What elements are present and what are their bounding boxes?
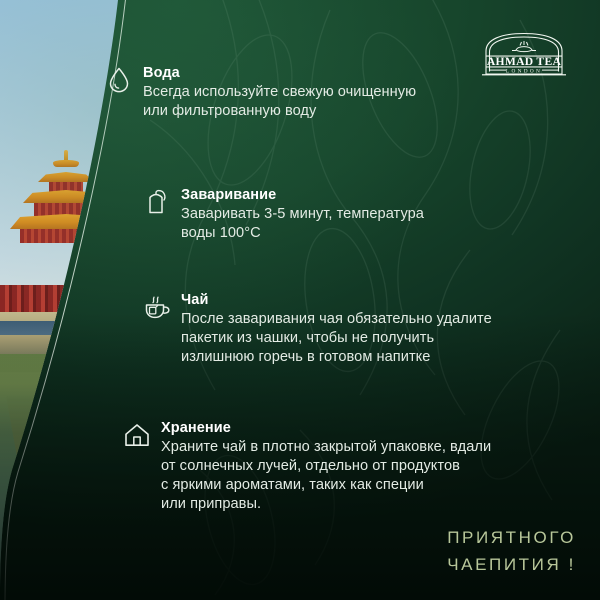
tip-title-storage: Хранение [161,419,491,437]
tip-item-brewing: Заваривание Заваривать 3-5 минут, темпер… [142,186,424,243]
tip-body-storage: Храните чай в плотно закрытой упаковке, … [161,438,491,514]
tea-bag-icon [142,187,172,217]
tip-title-water: Вода [143,64,416,82]
tea-cup-icon [142,292,172,322]
wish-line-1: ПРИЯТНОГО [447,525,576,551]
tip-text-water: Вода Всегда используйте свежую очищенную… [143,64,416,121]
tip-item-tea: Чай После заваривания чая обязательно уд… [142,291,492,367]
poster-root: AHMAD TEA LONDON Вода Всегда используйте… [0,0,600,600]
closing-wish: ПРИЯТНОГО ЧАЕПИТИЯ ! [447,525,576,578]
tip-text-storage: Хранение Храните чай в плотно закрытой у… [161,419,491,514]
wish-line-2: ЧАЕПИТИЯ ! [447,552,576,578]
tip-text-tea: Чай После заваривания чая обязательно уд… [181,291,492,367]
tip-title-brewing: Заваривание [181,186,424,204]
tip-title-tea: Чай [181,291,492,309]
tip-body-brewing: Заваривать 3-5 минут, температура воды 1… [181,205,424,243]
tip-body-water: Всегда используйте свежую очищенную или … [143,83,416,121]
water-drop-icon [104,65,134,95]
home-icon [122,420,152,450]
tip-item-storage: Хранение Храните чай в плотно закрытой у… [122,419,491,514]
tips-list: Вода Всегда используйте свежую очищенную… [0,0,600,600]
tip-item-water: Вода Всегда используйте свежую очищенную… [104,64,416,121]
tip-body-tea: После заваривания чая обязательно удалит… [181,310,492,367]
tip-text-brewing: Заваривание Заваривать 3-5 минут, темпер… [181,186,424,243]
